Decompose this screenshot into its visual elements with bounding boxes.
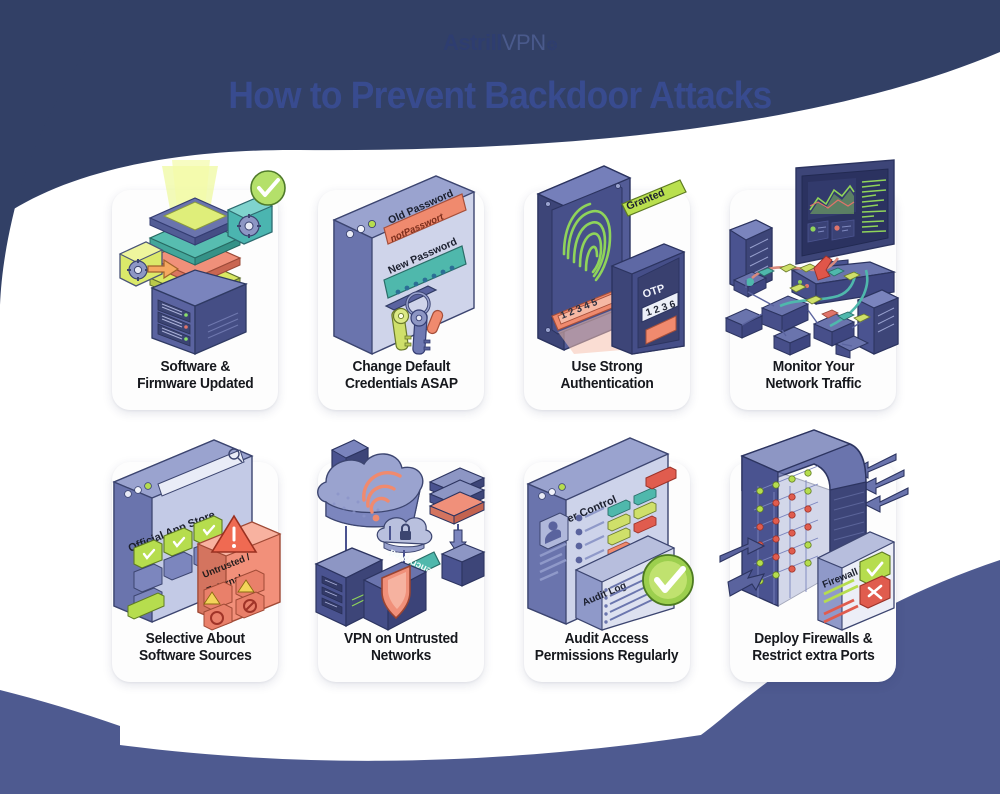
fingerprint-scanner bbox=[538, 166, 630, 350]
app-store-window: Official App Store bbox=[114, 440, 252, 622]
header: AstrillVPN❂ How to Prevent Backdoor Atta… bbox=[0, 0, 1000, 118]
otp-label: OTP bbox=[641, 282, 666, 300]
vpn-server-tower bbox=[316, 548, 382, 626]
granted-label: Granted bbox=[625, 187, 667, 213]
lock-icon bbox=[400, 525, 411, 541]
firewall-body bbox=[742, 430, 866, 606]
brand-logo: AstrillVPN❂ bbox=[443, 32, 557, 54]
page-title: How to Prevent Backdoor Attacks bbox=[35, 75, 965, 118]
card-label: Selective About Software Sources bbox=[139, 631, 252, 666]
otp-phone: OTP 1 2 3 6 bbox=[612, 244, 684, 354]
untrusted-label-line1: Untrusted / bbox=[201, 552, 252, 581]
key-ring bbox=[386, 286, 444, 354]
app-store-untrusted-illustration: Official App Store bbox=[100, 430, 290, 630]
gear-badge-left bbox=[120, 242, 162, 286]
user-control-label: User Control bbox=[552, 494, 618, 531]
key-fob-salmon bbox=[426, 309, 444, 335]
encrypted-tunnel: encrypted bbox=[372, 546, 440, 594]
otp-code: 1 2 3 6 bbox=[645, 299, 678, 319]
card-audit-access-permissions[interactable]: User Control bbox=[524, 462, 690, 682]
allowed-rule-lines bbox=[824, 580, 858, 602]
card-change-default-credentials[interactable]: Old Password notPasswort New Password bbox=[318, 190, 484, 410]
app-store-label: Official App Store bbox=[127, 509, 217, 555]
key-blue bbox=[411, 310, 430, 354]
audit-log-lines bbox=[610, 564, 660, 620]
server-left bbox=[730, 220, 772, 292]
firewall-rule-panel: Firewall Rule bbox=[818, 532, 894, 630]
shield-icon bbox=[382, 566, 410, 618]
old-password-field: Old Password notPasswort bbox=[384, 187, 466, 244]
card-label: VPN on Untrusted Networks bbox=[344, 631, 458, 666]
vpn-gateway-node bbox=[442, 544, 484, 586]
data-packets bbox=[758, 256, 870, 322]
warning-tiles bbox=[204, 570, 264, 630]
avatar bbox=[540, 513, 568, 549]
shield-panel bbox=[364, 562, 426, 630]
search-icon bbox=[229, 449, 239, 459]
vpn-cloud-shield-illustration: encrypted bbox=[306, 430, 496, 630]
pin-entry: 1 2 3 4 5 bbox=[552, 290, 622, 354]
vpn-links bbox=[346, 524, 458, 564]
browser-window bbox=[334, 176, 474, 354]
blocked-arrows bbox=[720, 538, 764, 596]
card-label: Deploy Firewalls & Restrict extra Ports bbox=[752, 631, 874, 666]
warning-triangle-icon bbox=[212, 516, 256, 552]
server-top bbox=[332, 440, 368, 496]
audit-log-panel: Audit Log bbox=[576, 536, 674, 630]
user-control-window: User Control bbox=[528, 438, 676, 624]
old-password-label: Old Password bbox=[386, 187, 455, 226]
network-links bbox=[742, 280, 870, 346]
card-label: Software & Firmware Updated bbox=[137, 359, 253, 394]
audit-log-bullets bbox=[604, 588, 607, 623]
pin-digits: 1 2 3 4 5 bbox=[559, 297, 600, 322]
audit-log-label: Audit Log bbox=[581, 580, 628, 608]
firewall-ports-illustration: Firewall Rule bbox=[718, 430, 908, 630]
card-label: Monitor Your Network Traffic bbox=[765, 359, 861, 394]
server-tower bbox=[152, 270, 246, 354]
user-control-audit-illustration: User Control bbox=[512, 430, 702, 630]
old-password-value: notPasswort bbox=[389, 211, 446, 245]
new-password-label: New Password bbox=[386, 236, 459, 277]
permission-rows bbox=[576, 488, 656, 563]
firewall-rule-label: Firewall Rule bbox=[821, 557, 883, 590]
port-dots bbox=[757, 470, 811, 584]
lock-cloud bbox=[377, 518, 432, 553]
new-password-field: New Password bbox=[384, 236, 466, 298]
password-dots bbox=[396, 266, 455, 295]
untrusted-panel: Untrusted / External bbox=[198, 516, 280, 630]
allow-button bbox=[860, 552, 890, 584]
app-tiles-neutral bbox=[134, 540, 222, 614]
card-deploy-firewalls-ports[interactable]: Firewall Rule bbox=[730, 462, 896, 682]
tips-grid: Software & Firmware Updated Old Password… bbox=[112, 190, 896, 682]
network-nodes bbox=[726, 272, 868, 358]
fingerprint-icon bbox=[564, 204, 610, 280]
card-software-firmware-updated[interactable]: Software & Firmware Updated bbox=[112, 190, 278, 410]
approved-check-icon bbox=[643, 555, 693, 605]
key-green bbox=[391, 309, 411, 351]
sidebar-lines bbox=[540, 544, 566, 580]
brand-name-light: VPN bbox=[502, 32, 546, 54]
port-grid bbox=[754, 466, 818, 604]
wifi-cloud bbox=[318, 454, 423, 527]
brand-trademark-icon: ❂ bbox=[547, 39, 557, 52]
gear-badge-right bbox=[228, 198, 272, 244]
block-button bbox=[860, 576, 890, 608]
server-stack-right bbox=[430, 468, 484, 524]
denied-rule-lines bbox=[824, 600, 858, 622]
server-right bbox=[858, 290, 898, 354]
traffic-flows bbox=[752, 258, 867, 326]
brand-name-bold: Astrill bbox=[443, 32, 502, 54]
untrusted-label-line2: External bbox=[205, 573, 244, 597]
card-label: Change Default Credentials ASAP bbox=[345, 359, 458, 394]
card-use-strong-authentication[interactable]: Granted 1 2 3 4 5 OTP 1 2 3 bbox=[524, 190, 690, 410]
wifi-icon bbox=[364, 473, 400, 522]
card-monitor-network-traffic[interactable]: Monitor Your Network Traffic bbox=[730, 190, 896, 410]
app-tiles-trusted bbox=[134, 516, 222, 568]
card-selective-software-sources[interactable]: Official App Store bbox=[112, 462, 278, 682]
encrypted-label: encrypted bbox=[388, 546, 434, 576]
card-vpn-untrusted-networks[interactable]: encrypted VPN on Untrusted Networks bbox=[318, 462, 484, 682]
card-label: Use Strong Authentication bbox=[560, 359, 653, 394]
card-label: Audit Access Permissions Regularly bbox=[535, 631, 679, 666]
